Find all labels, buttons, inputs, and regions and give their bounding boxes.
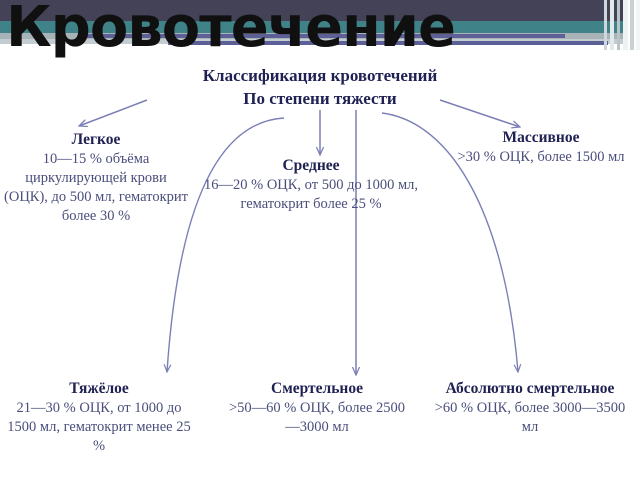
banner-stripe-5 <box>630 0 634 50</box>
banner-stripe-1 <box>604 0 607 50</box>
classification-heading: Классификация кровотечений <box>0 66 640 86</box>
node-legkoe-desc: 10—15 % объёма циркулирующей крови (ОЦК)… <box>2 150 190 226</box>
banner-stripe-6 <box>636 0 640 50</box>
node-massivnoe-desc: >30 % ОЦК, более 1500 мл <box>444 148 638 167</box>
banner-stripe-2 <box>610 0 614 50</box>
node-smertelnoe-desc: >50—60 % ОЦК, более 2500—3000 мл <box>224 399 410 437</box>
node-massivnoe-title: Массивное <box>444 128 638 148</box>
node-srednee: Среднее 16—20 % ОЦК, от 500 до 1000 мл, … <box>196 156 426 214</box>
node-absolutno-desc: >60 % ОЦК, более 3000—3500 мл <box>430 399 630 437</box>
node-massivnoe: Массивное >30 % ОЦК, более 1500 мл <box>444 128 638 167</box>
node-absolutno-title: Абсолютно смертельное <box>430 379 630 399</box>
node-srednee-desc: 16—20 % ОЦК, от 500 до 1000 мл, гематокр… <box>196 176 426 214</box>
severity-heading: По степени тяжести <box>0 89 640 109</box>
node-smertelnoe-title: Смертельное <box>224 379 410 399</box>
node-tyazheloe-desc: 21—30 % ОЦК, от 1000 до 1500 мл, гематок… <box>6 399 192 456</box>
slide-canvas: Кровотечение Классификация кровотечений … <box>0 0 640 480</box>
node-smertelnoe: Смертельное >50—60 % ОЦК, более 2500—300… <box>224 379 410 437</box>
node-tyazheloe: Тяжёлое 21—30 % ОЦК, от 1000 до 1500 мл,… <box>6 379 192 456</box>
node-srednee-title: Среднее <box>196 156 426 176</box>
banner-stripe-4 <box>623 0 628 50</box>
node-legkoe: Легкое 10—15 % объёма циркулирующей кров… <box>2 130 190 226</box>
slide-title: Кровотечение <box>6 0 526 60</box>
node-tyazheloe-title: Тяжёлое <box>6 379 192 399</box>
node-legkoe-title: Легкое <box>2 130 190 150</box>
node-absolutno: Абсолютно смертельное >60 % ОЦК, более 3… <box>430 379 630 437</box>
banner-stripe-3 <box>617 0 620 50</box>
